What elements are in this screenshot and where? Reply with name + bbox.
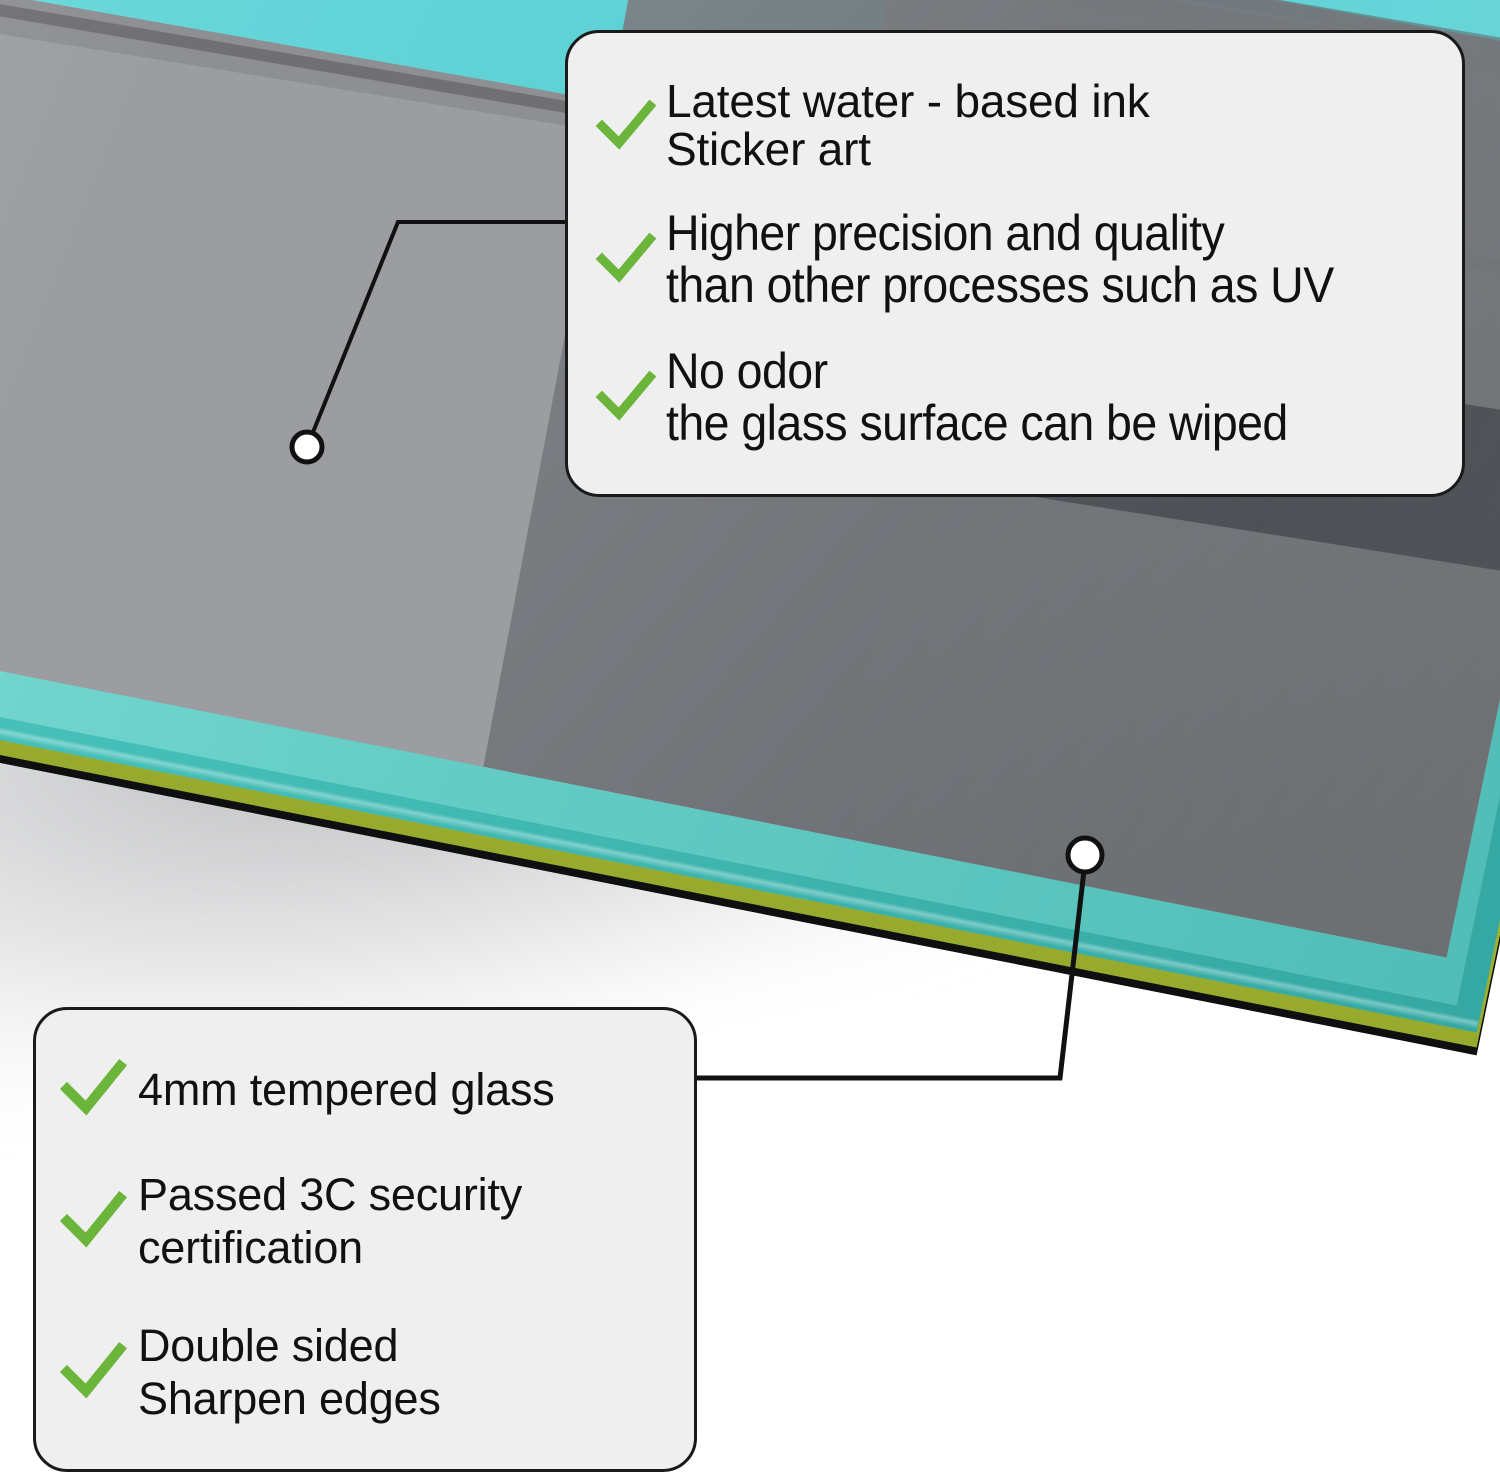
feature-item: Passed 3C security certification bbox=[58, 1168, 676, 1274]
check-icon bbox=[594, 228, 656, 290]
feature-label: Passed 3C security certification bbox=[138, 1168, 522, 1274]
feature-item: Higher precision and quality than other … bbox=[594, 207, 1444, 311]
callout-box-surface: Latest water - based ink Sticker art Hig… bbox=[565, 30, 1465, 497]
check-icon bbox=[58, 1337, 128, 1407]
feature-label: No odor the glass surface can be wiped bbox=[666, 345, 1288, 449]
feature-label: Higher precision and quality than other … bbox=[666, 207, 1334, 311]
product-infographic: Latest water - based ink Sticker art Hig… bbox=[0, 0, 1500, 1477]
callout-box-edge: 4mm tempered glass Passed 3C security ce… bbox=[33, 1007, 697, 1472]
check-icon bbox=[594, 95, 656, 157]
feature-item: Double sided Sharpen edges bbox=[58, 1319, 676, 1425]
feature-label: 4mm tempered glass bbox=[138, 1063, 555, 1116]
feature-label: Latest water - based ink Sticker art bbox=[666, 78, 1150, 174]
feature-item: 4mm tempered glass bbox=[58, 1054, 676, 1124]
check-icon bbox=[58, 1054, 128, 1124]
feature-item: Latest water - based ink Sticker art bbox=[594, 78, 1444, 174]
check-icon bbox=[58, 1186, 128, 1256]
feature-item: No odor the glass surface can be wiped bbox=[594, 345, 1444, 449]
feature-label: Double sided Sharpen edges bbox=[138, 1319, 441, 1425]
check-icon bbox=[594, 366, 656, 428]
